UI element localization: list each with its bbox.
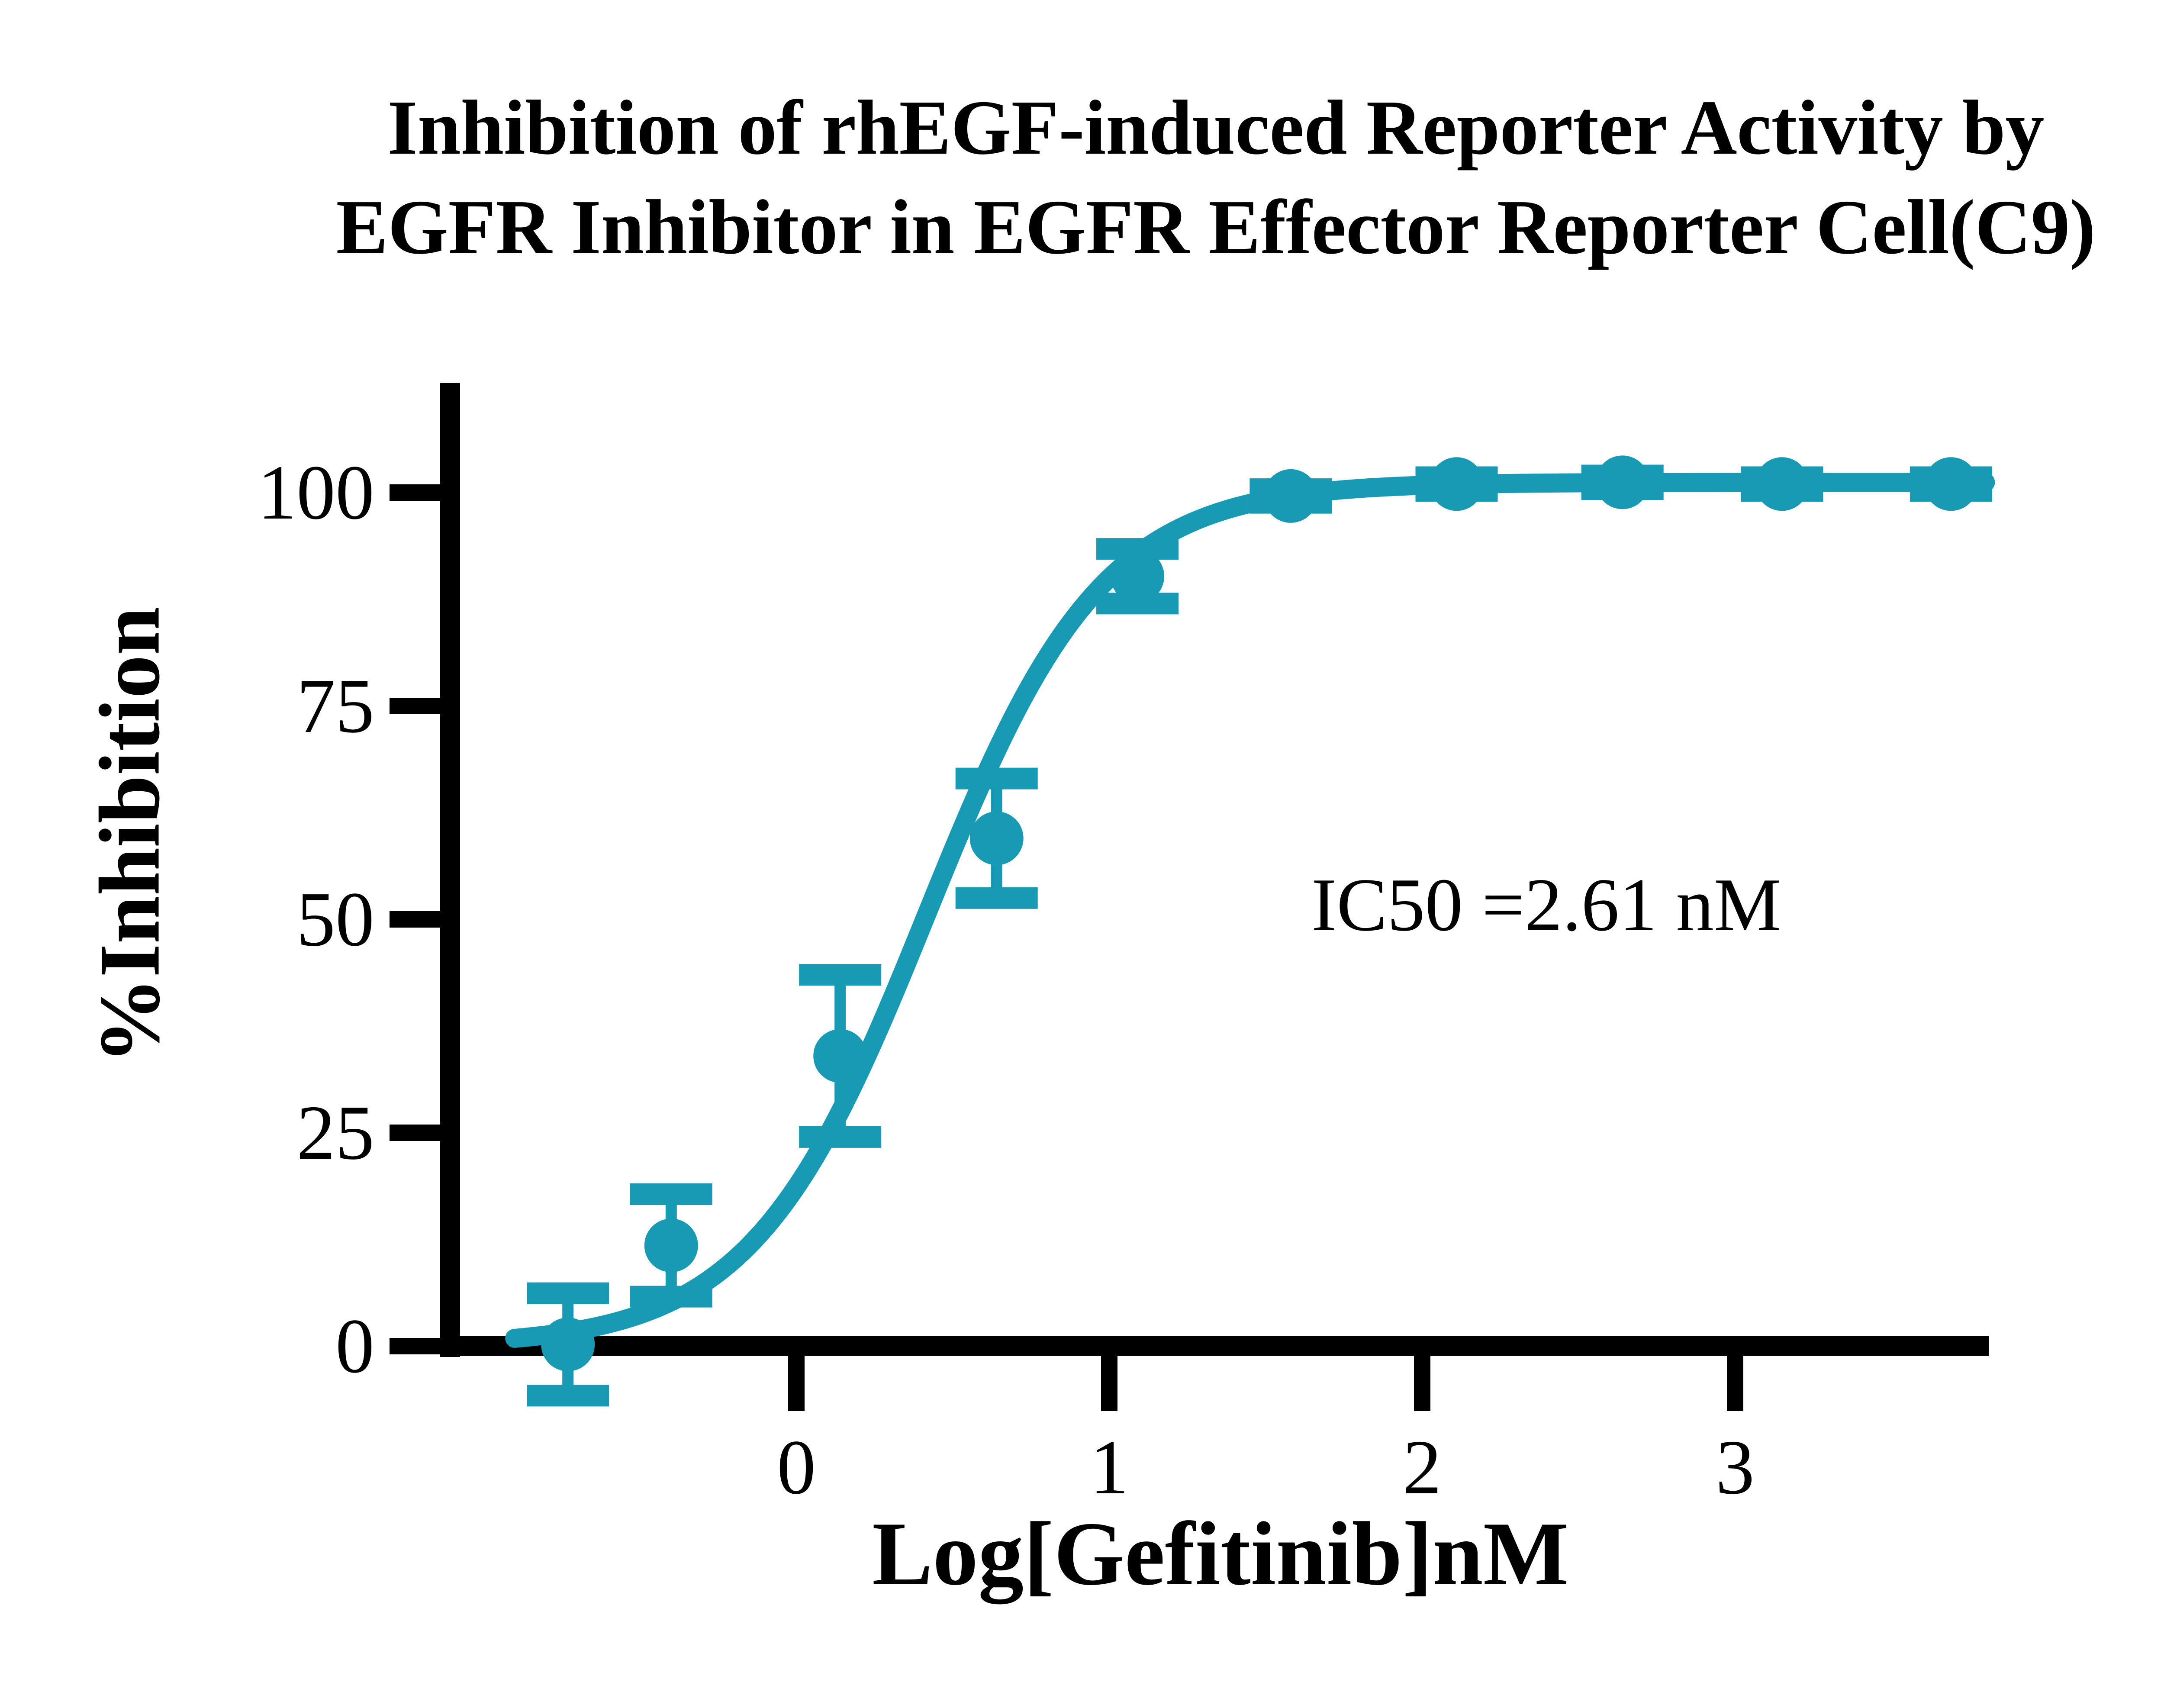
data-point-marker xyxy=(1755,457,1809,511)
data-point-marker xyxy=(644,1218,698,1272)
data-point-marker xyxy=(1596,455,1649,509)
error-bar xyxy=(527,1293,609,1396)
error-bar xyxy=(1910,477,1992,491)
error-bar xyxy=(1581,476,1664,490)
y-tick-label: 25 xyxy=(296,1094,374,1172)
error-bar xyxy=(799,975,881,1137)
error-bar xyxy=(1741,477,1823,491)
data-point-marker xyxy=(1924,457,1978,511)
data-point-marker xyxy=(970,812,1024,865)
x-axis-ticks xyxy=(796,1346,1735,1411)
y-tick-label: 100 xyxy=(258,454,374,532)
y-tick-label: 50 xyxy=(296,880,374,958)
x-tick-label: 2 xyxy=(1403,1428,1442,1506)
x-tick-label: 0 xyxy=(777,1428,816,1506)
chart-title: Inhibition of rhEGF-induced Reporter Act… xyxy=(0,78,2164,277)
data-point-marker xyxy=(1264,469,1317,523)
y-tick-label: 75 xyxy=(296,667,374,745)
error-bar xyxy=(630,1194,712,1297)
data-point-marker xyxy=(813,1029,867,1083)
x-axis-title: Log[Gefitinib]nM xyxy=(872,1502,1569,1606)
y-axis-title: %Inhibition xyxy=(81,607,180,1064)
error-bar xyxy=(1249,489,1332,503)
chart-figure: Inhibition of rhEGF-induced Reporter Act… xyxy=(0,0,2164,1708)
data-point-marker xyxy=(1111,549,1164,603)
y-axis-ticks xyxy=(390,493,450,1346)
error-bar xyxy=(1096,549,1179,603)
data-point-marker xyxy=(541,1318,595,1371)
data-point-marker xyxy=(1430,457,1484,511)
x-tick-label: 3 xyxy=(1716,1428,1755,1506)
y-tick-label: 0 xyxy=(335,1307,374,1385)
error-bar xyxy=(1416,477,1498,491)
error-bar xyxy=(956,779,1038,898)
ic50-annotation: IC50 =2.61 nM xyxy=(1311,861,1781,948)
x-tick-label: 1 xyxy=(1090,1428,1129,1506)
